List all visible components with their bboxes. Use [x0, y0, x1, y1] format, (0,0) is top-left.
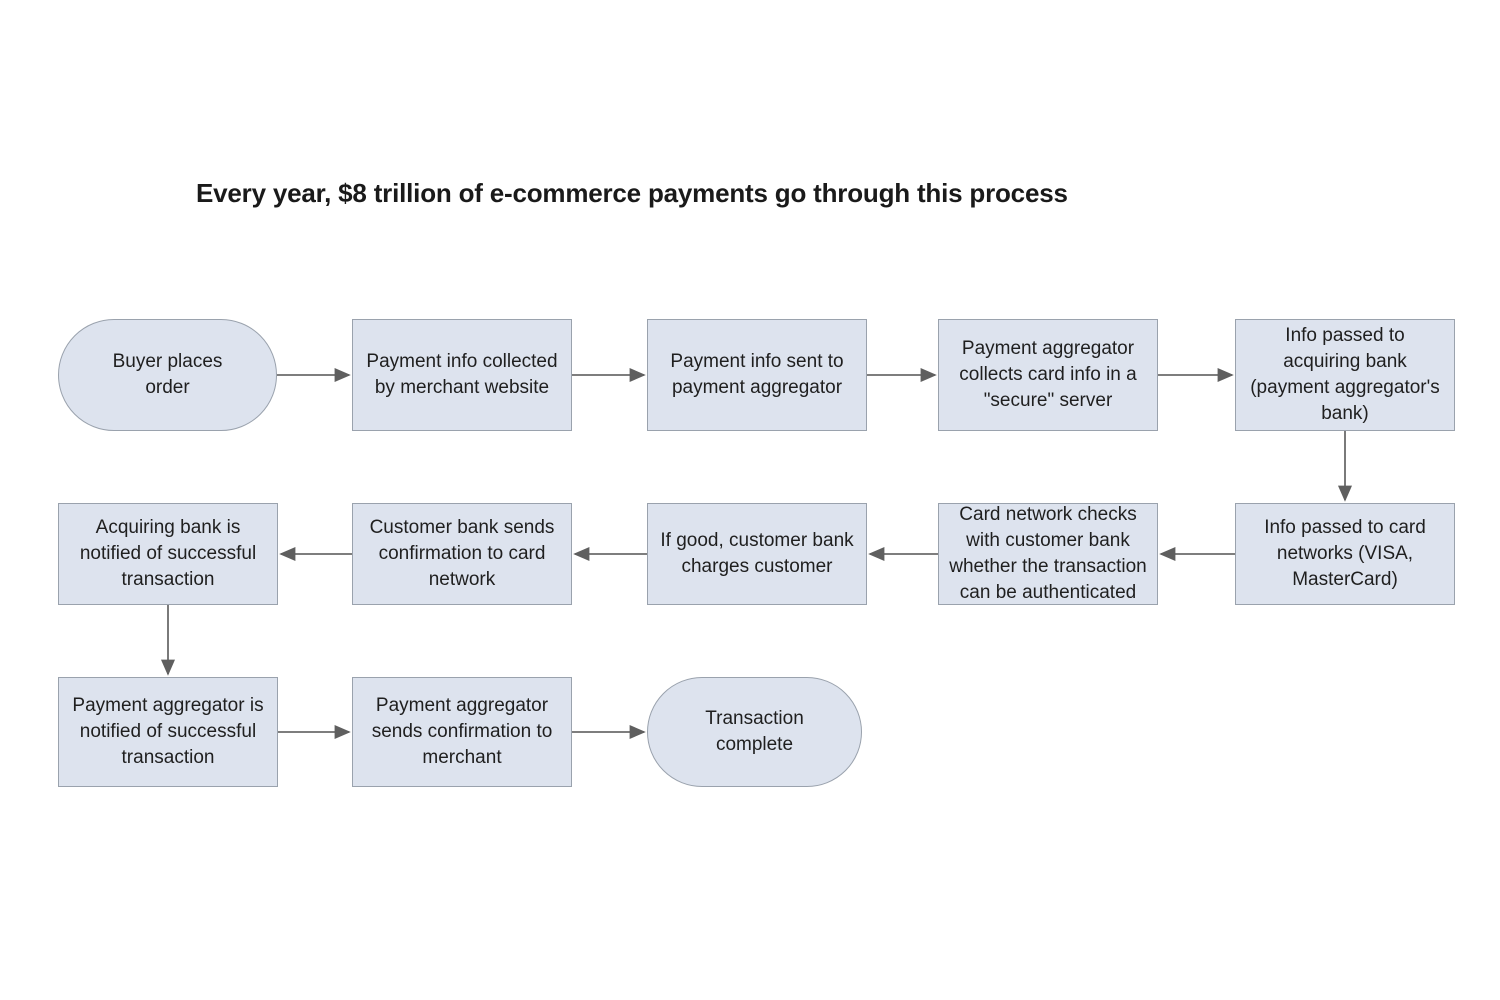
flowchart-node-label: Acquiring bank is notified of successful… — [80, 515, 256, 593]
flowchart-node-n7[interactable]: Card network checks with customer bank w… — [938, 503, 1158, 605]
flowchart-node-label: Payment info sent to payment aggregator — [670, 349, 843, 401]
flowchart-node-n5[interactable]: Info passed to acquiring bank (payment a… — [1235, 319, 1455, 431]
flowchart-node-label: Payment aggregator collects card info in… — [959, 336, 1136, 414]
flowchart-node-label: Info passed to card networks (VISA, Mast… — [1264, 515, 1426, 593]
flowchart-node-n8[interactable]: If good, customer bank charges customer — [647, 503, 867, 605]
flowchart-node-n11[interactable]: Payment aggregator is notified of succes… — [58, 677, 278, 787]
flowchart-node-label: Payment aggregator is notified of succes… — [72, 693, 263, 771]
flowchart-node-n9[interactable]: Customer bank sends confirmation to card… — [352, 503, 572, 605]
flowchart-node-n2[interactable]: Payment info collected by merchant websi… — [352, 319, 572, 431]
flowchart-node-label: Buyer places order — [113, 349, 223, 401]
flowchart-node-label: Payment info collected by merchant websi… — [366, 349, 557, 401]
flowchart-node-label: Customer bank sends confirmation to card… — [370, 515, 555, 593]
flowchart-node-label: Transaction complete — [705, 706, 804, 758]
flowchart-node-label: Card network checks with customer bank w… — [943, 502, 1153, 606]
flowchart-node-n12[interactable]: Payment aggregator sends confirmation to… — [352, 677, 572, 787]
flowchart-node-n13[interactable]: Transaction complete — [647, 677, 862, 787]
flowchart-edges — [0, 0, 1500, 1000]
flowchart-node-label: Payment aggregator sends confirmation to… — [372, 693, 553, 771]
flowchart-node-n6[interactable]: Info passed to card networks (VISA, Mast… — [1235, 503, 1455, 605]
flowchart-node-label: If good, customer bank charges customer — [660, 528, 853, 580]
flowchart-node-n4[interactable]: Payment aggregator collects card info in… — [938, 319, 1158, 431]
flowchart-canvas: Every year, $8 trillion of e-commerce pa… — [0, 0, 1500, 1000]
flowchart-node-n3[interactable]: Payment info sent to payment aggregator — [647, 319, 867, 431]
flowchart-node-n10[interactable]: Acquiring bank is notified of successful… — [58, 503, 278, 605]
flowchart-node-n1[interactable]: Buyer places order — [58, 319, 277, 431]
flowchart-node-label: Info passed to acquiring bank (payment a… — [1250, 323, 1440, 427]
page-title: Every year, $8 trillion of e-commerce pa… — [196, 178, 1068, 209]
